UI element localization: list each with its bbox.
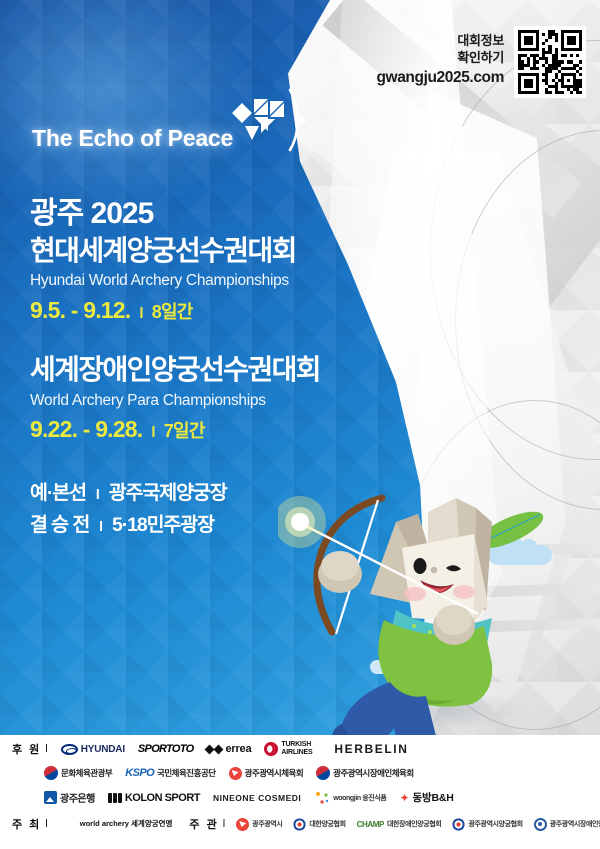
korea-archery-association-text: 대한양궁협회 [309,819,345,829]
host-label: 주 최 l [12,816,48,832]
gwangju-archery-association-text: 광주광역시양궁협회 [468,819,522,829]
archery-target-icon [293,818,306,831]
kolon-sport-logo[interactable]: KOLON SPORT [108,792,200,804]
event-2-separator: l [151,424,154,441]
event-1-date-row: 9.5. - 9.12. l 8일간 [30,297,360,324]
poster-canvas: 대회정보 확인하기 gwangju2025.com The Echo of Pe… [0,0,600,849]
organizer-label-bar: l [223,818,225,830]
event-1-title-kr: 현대세계양궁선수권대회 [30,233,360,269]
gwangju-para-sports-council-text: 광주광역시장애인체육회 [333,767,414,779]
footer-row-organizers: 주 최 l world archery 세계양궁연맹 주 관 l 광주광역시 대… [12,816,600,832]
world-archery-logo[interactable]: world archery 세계양궁연맹 [59,818,173,831]
nineone-cosmedi-logo[interactable]: NINEONE COSMEDI [213,793,301,803]
venue-2-separator: l [99,515,102,538]
gwangju-city-text: 광주광역시 [252,819,282,829]
hyundai-logo-text: HYUNDAI [81,744,125,755]
taeguk-icon [44,766,58,780]
woongjin-logo[interactable]: woongjin 웅진식품 [314,791,386,805]
archery-target-icon-2 [452,818,465,831]
event-2-date-row: 9.22. - 9.28. l 7일간 [30,416,360,443]
event-2-title-en: World Archery Para Championships [30,389,360,412]
event-1-city-year: 광주 2025 [30,196,360,233]
venue-2-label: 결 승 전 [30,510,89,542]
world-archery-icon [59,818,77,831]
herbelin-logo-text: HERBELIN [334,742,408,756]
event-info-block: 광주 2025 현대세계양궁선수권대회 Hyundai World Archer… [30,196,360,443]
qr-line-1: 대회정보 [376,32,504,49]
errea-diamond-icon [206,746,222,753]
kolon-mark-icon [108,793,122,803]
host-label-text: 주 최 [12,816,41,832]
mcst-logo[interactable]: 문화체육관광부 [44,766,112,780]
dongbang-mark-icon: ✦ [399,791,409,805]
venue-1-separator: l [96,483,99,506]
turkish-airlines-logo-text: TURKISH AIRLINES [281,741,321,756]
turkish-airlines-logo[interactable]: TURKISH AIRLINES [264,741,321,756]
footer-row-sponsors-1: 후 원 l HYUNDAI SPORTOTO errea TURKISH AIR… [12,741,409,757]
korea-para-archery-logo[interactable]: CHAMP 대한장애인양궁협회 [357,819,442,829]
event-2-title-kr: 세계장애인양궁선수권대회 [30,352,360,388]
gwangju-archery-association-logo[interactable]: 광주광역시양궁협회 [452,818,522,831]
world-archery-text: world archery 세계양궁연맹 [80,820,173,828]
kspo-logo[interactable]: KSPO 국민체육진흥공단 [125,767,215,779]
hyundai-oval-icon [61,744,78,755]
event-1-date: 9.5. - 9.12. [30,297,130,324]
errea-logo[interactable]: errea [206,743,251,755]
qr-code[interactable] [514,26,586,98]
page-title: The Echo of Peace [32,125,233,152]
woongjin-icon [314,791,330,805]
sportoto-logo[interactable]: SPORTOTO [138,743,194,755]
sponsor-label: 후 원 l [12,741,48,757]
footer-row-sponsors-3: 광주은행 KOLON SPORT NINEONE COSMEDI [44,790,454,805]
kspo-wordmark: KSPO [125,767,154,779]
mcst-logo-text: 문화체육관광부 [61,767,112,779]
event-2-date: 9.22. - 9.28. [30,416,142,443]
event-block-2: 세계장애인양궁선수권대회 World Archery Para Champion… [30,352,360,443]
gwangju-bank-text: 광주은행 [60,790,95,805]
gwangju-para-archery-association-logo[interactable]: 광주광역시장애인양궁협회 [534,818,600,831]
qr-line-2: 확인하기 [376,49,504,66]
dongbang-bh-text: 동방B&H [413,790,454,805]
footer-sponsors: 후 원 l HYUNDAI SPORTOTO errea TURKISH AIR… [0,735,600,849]
gwangju-bank-icon [44,791,57,804]
qr-info-block[interactable]: 대회정보 확인하기 gwangju2025.com [376,26,586,98]
event-1-duration: 8일간 [152,298,193,324]
sportoto-logo-text: SPORTOTO [138,743,194,755]
gwangju-bank-logo[interactable]: 광주은행 [44,790,95,805]
gwangju-mark-icon [229,767,242,780]
hyundai-logo[interactable]: HYUNDAI [61,744,125,755]
host-label-bar: l [45,818,47,830]
venue-row-2: 결 승 전 l 5·18민주광장 [30,510,227,542]
dongbang-bh-logo[interactable]: ✦ 동방B&H [399,790,453,805]
para-archery-ring-icon [534,818,547,831]
event-block-1: 광주 2025 현대세계양궁선수권대회 Hyundai World Archer… [30,196,360,324]
event-1-separator: l [139,305,142,322]
champ-icon: CHAMP [357,820,384,829]
kspo-logo-text: 국민체육진흥공단 [157,767,216,779]
gwangju-para-sports-council-logo[interactable]: 광주광역시장애인체육회 [316,766,414,780]
website-url[interactable]: gwangju2025.com [376,68,504,88]
woongjin-text: woongjin 웅진식품 [333,793,386,803]
organizer-label: 주 관 l [189,816,225,832]
sponsor-label-text: 후 원 [12,741,41,757]
korea-archery-association-logo[interactable]: 대한양궁협회 [293,818,345,831]
gwangju-para-archery-association-text: 광주광역시장애인양궁협회 [550,819,600,829]
footer-row-sponsors-2: 문화체육관광부 KSPO 국민체육진흥공단 광주광역시체육회 광주광역시장애인체… [44,766,414,780]
kolon-sport-text: KOLON SPORT [125,792,200,804]
archer-mascot-character [278,486,600,738]
gwangju-city-icon [236,818,249,831]
gwangju-sports-council-logo[interactable]: 광주광역시체육회 [229,767,304,780]
venue-2-place: 5·18민주광장 [112,510,214,542]
organizer-label-text: 주 관 [189,816,218,832]
gwangju-city-logo[interactable]: 광주광역시 [236,818,282,831]
nineone-cosmedi-text: NINEONE COSMEDI [213,793,301,803]
korea-para-archery-text: 대한장애인양궁협회 [387,819,441,829]
venue-row-1: 예·본선 l 광주국제양궁장 [30,478,227,510]
venue-1-place: 광주국제양궁장 [109,478,227,510]
gwangju-sports-council-text: 광주광역시체육회 [245,767,304,779]
venue-1-label: 예·본선 [30,478,86,510]
event-gap [30,324,360,352]
herbelin-logo[interactable]: HERBELIN [334,742,408,756]
taeguk-icon-2 [316,766,330,780]
event-2-duration: 7일간 [164,417,205,443]
event-1-title-en: Hyundai World Archery Championships [30,269,360,292]
sponsor-label-bar: l [45,743,47,755]
turkish-airlines-icon [264,742,278,756]
errea-logo-text: errea [225,743,251,755]
qr-text: 대회정보 확인하기 gwangju2025.com [376,26,504,89]
venue-info-block: 예·본선 l 광주국제양궁장 결 승 전 l 5·18민주광장 [30,478,227,541]
